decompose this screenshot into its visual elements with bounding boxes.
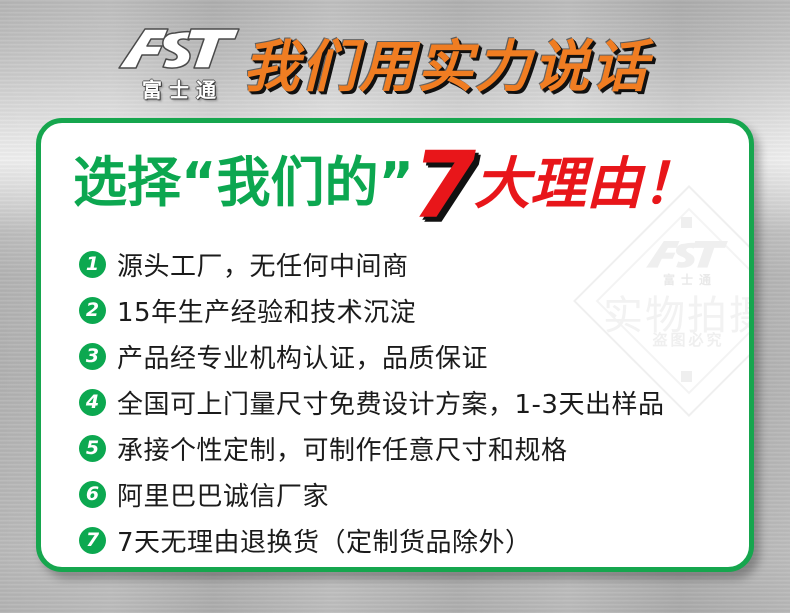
poster-header: 富士通 我们用实力说话 (0, 0, 790, 118)
list-item: 1 源头工厂，无任何中间商 (79, 241, 739, 287)
panel-title: 选择“我们的”7大理由！ (73, 141, 702, 227)
reason-text: 15年生产经验和技术沉淀 (117, 292, 739, 329)
reason-number-badge: 1 (79, 251, 106, 278)
reason-text: 源头工厂，无任何中间商 (117, 246, 739, 283)
reason-number-badge: 2 (79, 297, 106, 324)
list-item: 4 全国可上门量尺寸免费设计方案，1-3天出样品 (79, 379, 739, 425)
reason-number-badge: 3 (79, 343, 106, 370)
reason-text: 产品经专业机构认证，品质保证 (117, 338, 739, 375)
list-item: 7 7天无理由退换货（定制货品除外） (79, 517, 739, 563)
reasons-panel: 富士通 实物拍摄 盗图必究 选择“我们的”7大理由！ 1 源头工厂，无任何中间商… (36, 118, 754, 572)
list-item: 2 15年生产经验和技术沉淀 (79, 287, 739, 333)
title-number: 7 (412, 149, 476, 223)
title-green-text: 选择“我们的” (73, 138, 414, 217)
company-name-cn: 富士通 (116, 74, 242, 103)
reason-number-badge: 7 (79, 527, 106, 554)
reason-number-badge: 5 (79, 435, 106, 462)
company-logo: 富士通 (116, 26, 242, 103)
title-red-text: 大理由！ (474, 139, 698, 220)
reason-number-badge: 6 (79, 481, 106, 508)
fst-logo-icon (116, 26, 242, 70)
list-item: 6 阿里巴巴诚信厂家 (79, 471, 739, 517)
list-item: 3 产品经专业机构认证，品质保证 (79, 333, 739, 379)
reason-text: 7天无理由退换货（定制货品除外） (117, 522, 739, 559)
header-slogan: 我们用实力说话 (243, 22, 649, 103)
promo-poster: 富士通 我们用实力说话 富士通 实物拍摄 盗图必究 (0, 0, 790, 613)
reason-number-badge: 4 (79, 389, 106, 416)
reason-text: 阿里巴巴诚信厂家 (117, 476, 739, 513)
reason-text: 承接个性定制，可制作任意尺寸和规格 (117, 430, 739, 467)
reasons-list: 1 源头工厂，无任何中间商 2 15年生产经验和技术沉淀 3 产品经专业机构认证… (79, 241, 739, 563)
reason-text: 全国可上门量尺寸免费设计方案，1-3天出样品 (117, 384, 739, 421)
list-item: 5 承接个性定制，可制作任意尺寸和规格 (79, 425, 739, 471)
